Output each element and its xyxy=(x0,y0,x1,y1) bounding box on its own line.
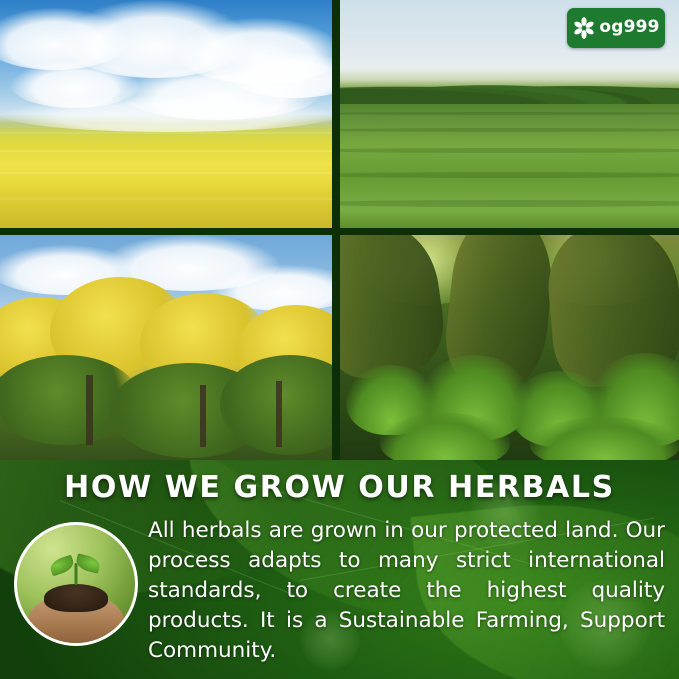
canola-field-image xyxy=(0,0,332,228)
photo-flowering-trees xyxy=(0,235,332,460)
tree-trunk xyxy=(200,385,206,447)
crop-row xyxy=(340,200,679,207)
info-panel: HOW WE GROW OUR HERBALS All herbals are … xyxy=(0,460,679,679)
sprout-leaf xyxy=(75,553,102,573)
product-infographic: og999 HOW WE GROW OUR HERBALS All herbal… xyxy=(0,0,679,679)
sprout-leaf xyxy=(48,555,75,577)
fern-cluster xyxy=(530,417,679,460)
photo-grid xyxy=(0,0,679,460)
tree-trunk xyxy=(276,381,282,447)
crop-row xyxy=(340,148,679,153)
panel-body-text: All herbals are grown in our protected l… xyxy=(148,516,665,666)
field-row xyxy=(0,132,332,134)
flower-icon xyxy=(572,16,596,40)
fern-cluster xyxy=(380,413,510,460)
photo-canola-field xyxy=(0,0,332,228)
distant-treeline xyxy=(340,78,679,104)
cloud-shape xyxy=(0,96,332,132)
crop-row xyxy=(340,112,679,115)
brand-logo: og999 xyxy=(567,8,665,48)
flowering-trees-image xyxy=(0,235,332,460)
soil-shape xyxy=(44,584,108,612)
mossy-forest-image xyxy=(340,235,679,460)
crop-row xyxy=(340,172,679,178)
panel-headline: HOW WE GROW OUR HERBALS xyxy=(0,470,679,505)
sprout-stem xyxy=(75,563,78,585)
seedling-in-hands-icon xyxy=(14,522,138,646)
crop-row xyxy=(340,128,679,132)
photo-mossy-forest xyxy=(340,235,679,460)
tree-trunk xyxy=(86,375,93,445)
field-row xyxy=(0,150,332,152)
field-row xyxy=(0,198,332,200)
brand-name: og999 xyxy=(599,19,659,38)
field-row xyxy=(0,172,332,174)
